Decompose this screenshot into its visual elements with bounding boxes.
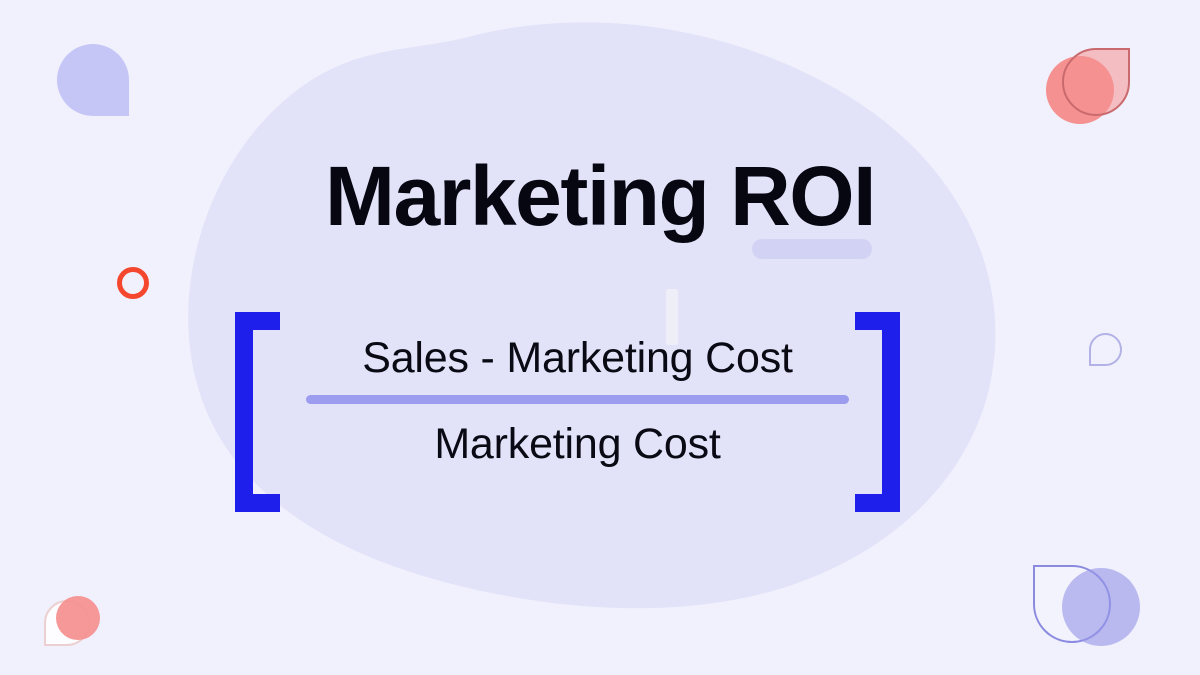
- page-title: Marketing ROI: [0, 148, 1200, 244]
- roi-formula: Sales - Marketing Cost Marketing Cost: [290, 330, 865, 472]
- formula-numerator: Sales - Marketing Cost: [290, 330, 865, 386]
- formula-left-bracket: [235, 312, 280, 512]
- formula-denominator: Marketing Cost: [290, 416, 865, 472]
- formula-fraction-bar: [306, 395, 849, 404]
- slide-canvas: Marketing ROI Sales - Marketing Cost Mar…: [0, 0, 1200, 675]
- content-layer: Marketing ROI Sales - Marketing Cost Mar…: [0, 0, 1200, 675]
